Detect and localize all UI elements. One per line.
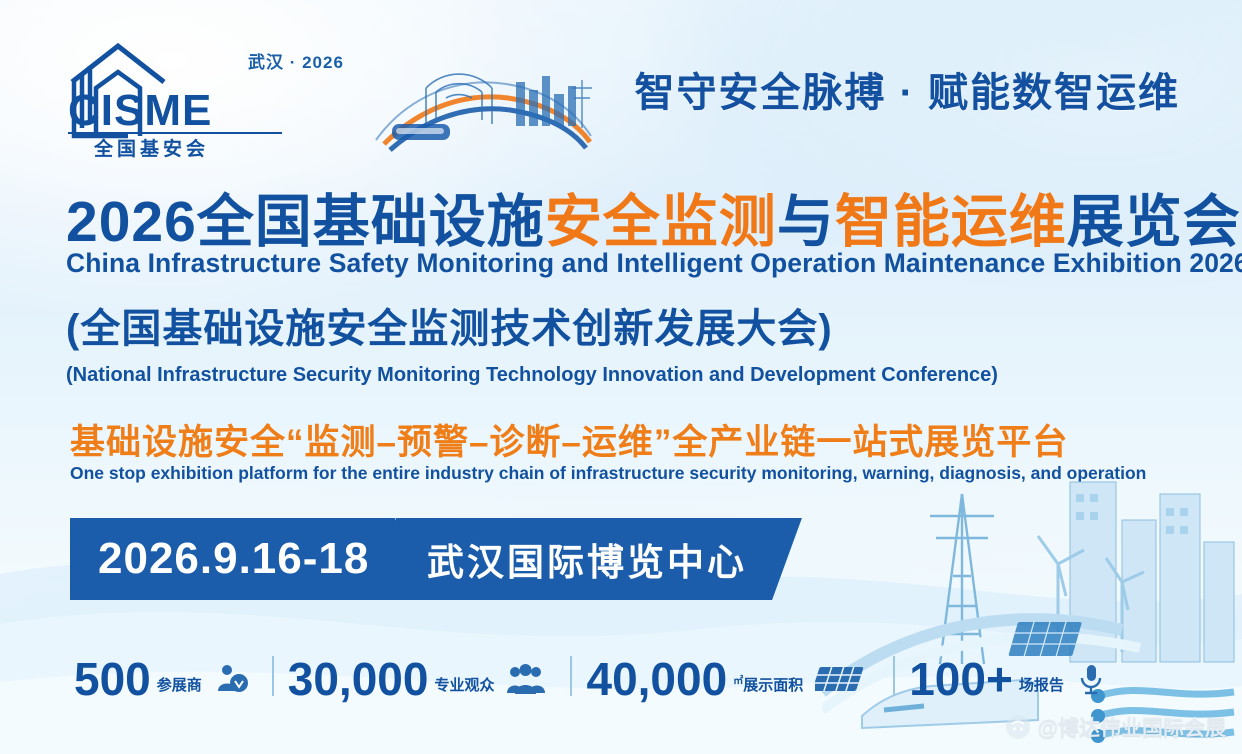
date-venue-bar: 2026.9.16-18 武汉国际博览中心: [70, 518, 787, 600]
main-title-part1: 2026全国基础设施: [66, 190, 545, 254]
stat-number: 30,000: [288, 656, 429, 702]
main-title-english: China Infrastructure Safety Monitoring a…: [66, 248, 1242, 279]
logo-year: 武汉 · 2026: [248, 48, 344, 73]
stat-label: 参展商: [157, 674, 202, 695]
stat-item: 500 参展商: [74, 656, 202, 702]
event-venue: 武汉国际博览中心: [427, 532, 747, 586]
main-title-part3: 展览会: [1067, 190, 1241, 254]
stat-number: 500: [74, 656, 151, 702]
stat-item: 100+ 场报告: [909, 656, 1064, 702]
header: CISME 全国基安会 武汉 · 2026: [66, 36, 1182, 154]
main-title-highlight2: 智能运维: [835, 190, 1067, 254]
logo-subtitle: 全国基安会: [94, 134, 209, 161]
subtitle-chinese: (全国基础设施安全监测技术创新发展大会): [66, 296, 833, 354]
stat-item: 30,000 专业观众: [288, 656, 495, 702]
main-title-highlight1: 安全监测: [545, 190, 777, 254]
stat-label: 场报告: [1019, 674, 1064, 695]
event-date: 2026.9.16-18: [98, 534, 369, 584]
logo: CISME 全国基安会 武汉 · 2026: [66, 36, 296, 152]
audience-icon: [506, 663, 546, 700]
area-icon: [815, 663, 869, 700]
subtitle-english: (National Infrastructure Security Monito…: [66, 364, 998, 387]
stat-number: 100+: [909, 656, 1013, 702]
main-title-part2: 与: [777, 190, 835, 254]
stat-label: ㎡展示面积: [733, 672, 803, 695]
date-block: 2026.9.16-18: [70, 518, 395, 600]
main-title: 2026全国基础设施安全监测与智能运维展览会: [66, 176, 1241, 258]
stats-row: 500 参展商 30,000 专业观众 40,000 ㎡展示面积 100+ 场报…: [74, 640, 1116, 702]
logo-wordmark: CISME: [68, 86, 212, 136]
stat-unit: ㎡: [733, 676, 743, 687]
stat-item: 40,000 ㎡展示面积: [586, 656, 803, 702]
infrastructure-illustration-icon: [822, 424, 1242, 754]
stat-divider: [272, 656, 274, 696]
report-icon: [1076, 663, 1106, 700]
venue-block: 武汉国际博览中心: [386, 518, 802, 600]
stat-label-text: 展示面积: [743, 677, 803, 694]
slogan: 智守安全脉搏 · 赋能数智运维: [634, 60, 1180, 118]
watermark: @博达伟业国际会展: [1005, 712, 1226, 742]
exhibitor-icon: [214, 661, 248, 700]
watermark-text: @博达伟业国际会展: [1038, 712, 1226, 742]
stat-divider: [893, 656, 895, 696]
stat-divider: [570, 656, 572, 696]
xiaohongshu-icon: [1005, 714, 1031, 740]
stat-number: 40,000: [586, 656, 727, 702]
stat-label: 专业观众: [434, 674, 494, 695]
poster-canvas: CISME 全国基安会 武汉 · 2026: [0, 0, 1242, 754]
city-illustration-icon: [366, 58, 616, 158]
